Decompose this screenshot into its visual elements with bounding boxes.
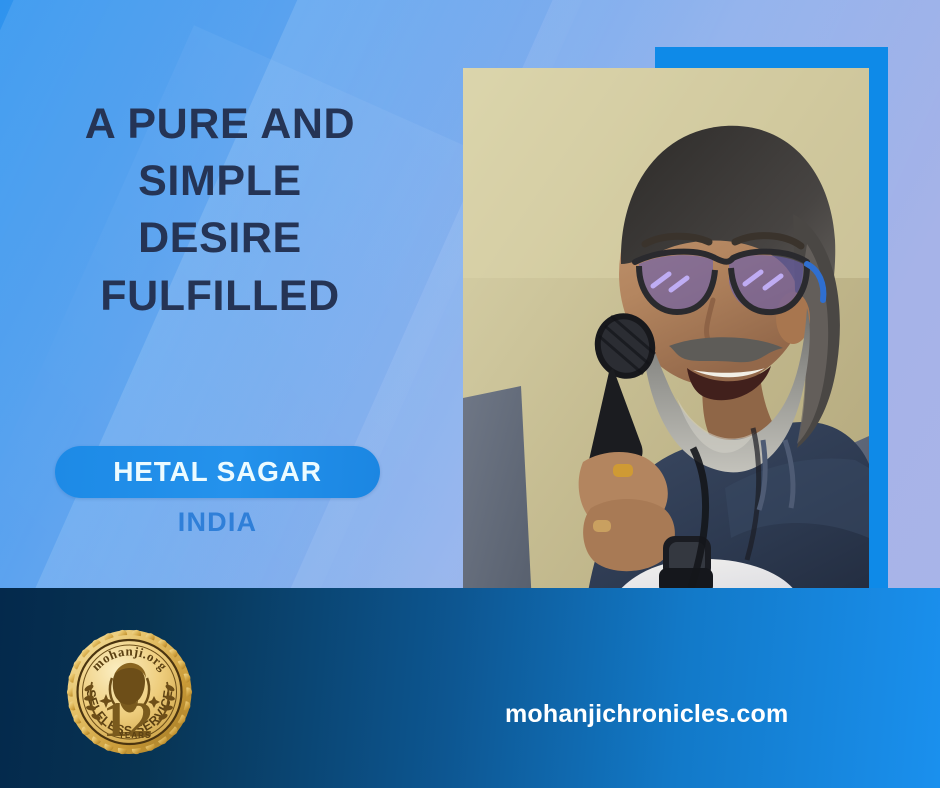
- seal-illustration: mohanji.org SELFLESS SERVICE: [62, 618, 197, 766]
- gold-award-seal-icon: mohanji.org SELFLESS SERVICE: [62, 618, 197, 766]
- headline-line-2: SIMPLE: [0, 153, 440, 210]
- website-url[interactable]: mohanjichronicles.com: [505, 700, 788, 729]
- speaker-name-badge: HETAL SAGAR: [55, 446, 380, 498]
- poster-headline: A PURE AND SIMPLE DESIRE FULFILLED: [0, 96, 440, 325]
- promo-poster: A PURE AND SIMPLE DESIRE FULFILLED HETAL…: [0, 0, 940, 788]
- speaker-country-label: INDIA: [55, 507, 380, 538]
- headline-line-3: DESIRE: [0, 210, 440, 267]
- seal-number-label: YEARS: [119, 731, 152, 740]
- speaker-name-label: HETAL SAGAR: [113, 456, 321, 488]
- gold-ring: [613, 464, 633, 477]
- speaker-portrait-photo: [463, 68, 869, 665]
- speaker-portrait-illustration: [463, 68, 869, 665]
- headline-line-4: FULFILLED: [0, 268, 440, 325]
- headline-line-1: A PURE AND: [0, 96, 440, 153]
